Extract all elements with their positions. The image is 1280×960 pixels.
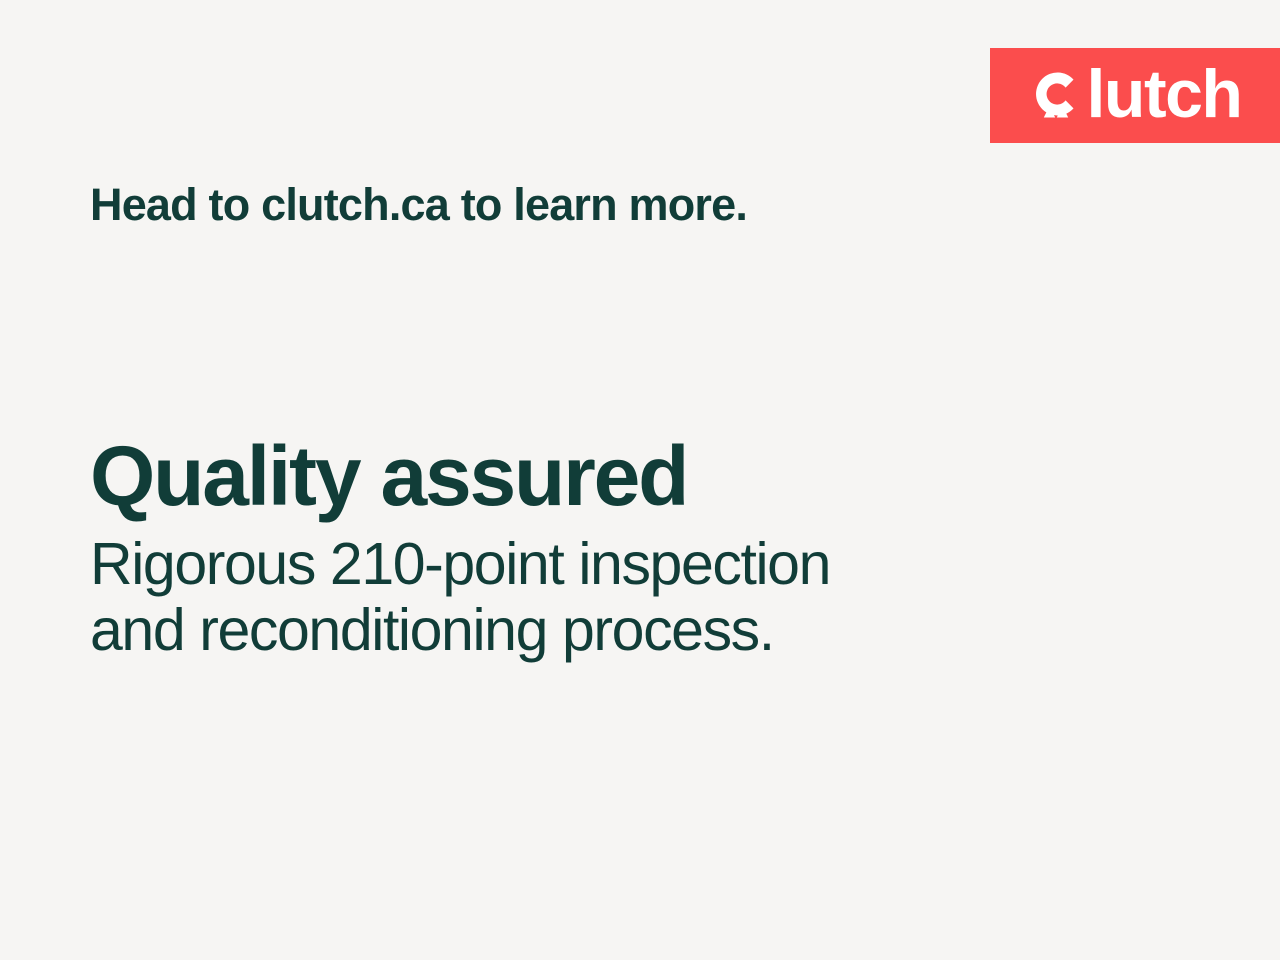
subcopy-line-1: Rigorous 210-point inspection: [90, 531, 1090, 597]
headline-text: Quality assured: [90, 432, 1090, 521]
tagline-text: Head to clutch.ca to learn more.: [90, 180, 747, 230]
main-copy-block: Quality assured Rigorous 210-point inspe…: [90, 432, 1090, 663]
clutch-wordmark: lutch: [1087, 60, 1242, 128]
logo-lockup: lutch: [1029, 60, 1242, 128]
clutch-c-mark-icon: [1029, 66, 1085, 122]
subcopy-text: Rigorous 210-point inspection and recond…: [90, 531, 1090, 663]
slide-canvas: lutch Head to clutch.ca to learn more. Q…: [0, 0, 1280, 960]
subcopy-line-2: and reconditioning process.: [90, 597, 1090, 663]
clutch-logo-badge[interactable]: lutch: [990, 48, 1280, 143]
